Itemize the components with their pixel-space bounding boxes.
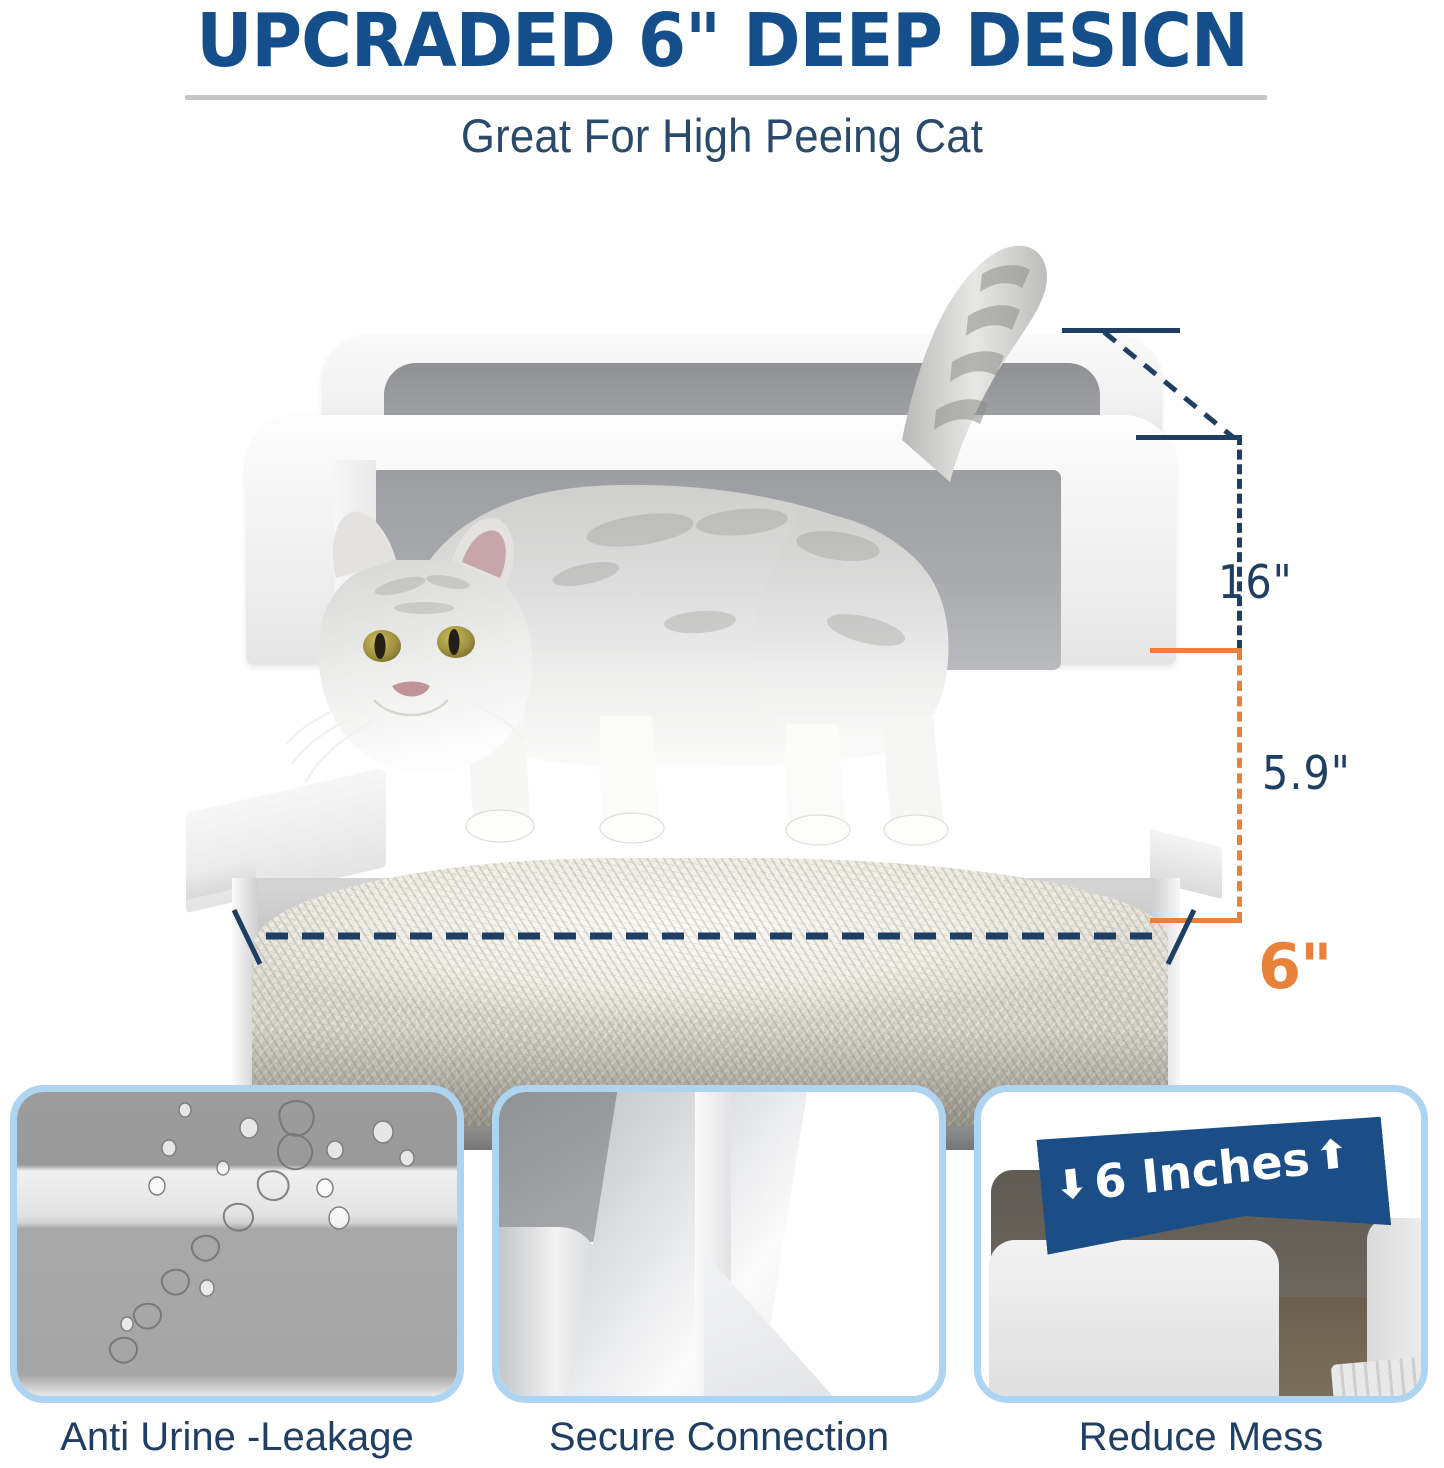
feature-panel-secure-connection[interactable] [492, 1085, 946, 1403]
page-subheadline: Great For High Peeing Cat [51, 108, 1394, 163]
up-arrow-icon: ⬆ [1313, 1134, 1350, 1178]
header-divider-rule [185, 95, 1267, 100]
dim-5_9-dashed-line [1237, 435, 1242, 650]
cat-hind-leg-left [785, 724, 846, 822]
feature-panels: Anti Urine -Leakage Secure Connection ⬇ … [0, 1085, 1444, 1468]
cat-front-leg-right [599, 716, 660, 820]
feature-panel-reduce-mess[interactable]: ⬇ 6 Inches ⬆ [974, 1085, 1428, 1403]
dim-6-leader-top [1150, 648, 1242, 653]
cat-head [319, 560, 533, 773]
feature-caption-reduce-mess: Reduce Mess [974, 1415, 1428, 1460]
page-headline: UPCRADED 6" DEEP DESICN [0, 0, 1444, 84]
down-arrow-icon: ⬇ [1053, 1163, 1090, 1207]
cat-paws [466, 810, 948, 845]
feature-panel-anti-urine-leakage[interactable] [10, 1085, 464, 1403]
six-inches-badge-text: ⬇ 6 Inches ⬆ [1052, 1127, 1351, 1214]
cat-hind-leg-right [884, 718, 944, 822]
water-droplets-icon [17, 1092, 457, 1396]
product-hero-image: 16" 5.9" 6" 23.6" [0, 230, 1444, 1050]
dim-23_6-graphic [222, 902, 1222, 992]
dim-16-diagonal [1100, 326, 1240, 446]
dim-16-leader-bottom [1136, 435, 1240, 440]
badge-label: 6 Inches [1092, 1131, 1312, 1209]
marketing-image: UPCRADED 6" DEEP DESICN Great For High P… [0, 0, 1444, 1468]
dimension-label-wall-height: 5.9" [1262, 746, 1351, 800]
feature-caption-anti-urine-leakage: Anti Urine -Leakage [10, 1415, 464, 1460]
dimension-label-tray-depth: 6" [1258, 930, 1331, 1003]
dimension-label-depth: 16" [1218, 555, 1293, 609]
panel3-front-wall [989, 1240, 1279, 1403]
dim-6-dashed-line [1237, 650, 1242, 922]
feature-caption-secure-connection: Secure Connection [492, 1415, 946, 1460]
